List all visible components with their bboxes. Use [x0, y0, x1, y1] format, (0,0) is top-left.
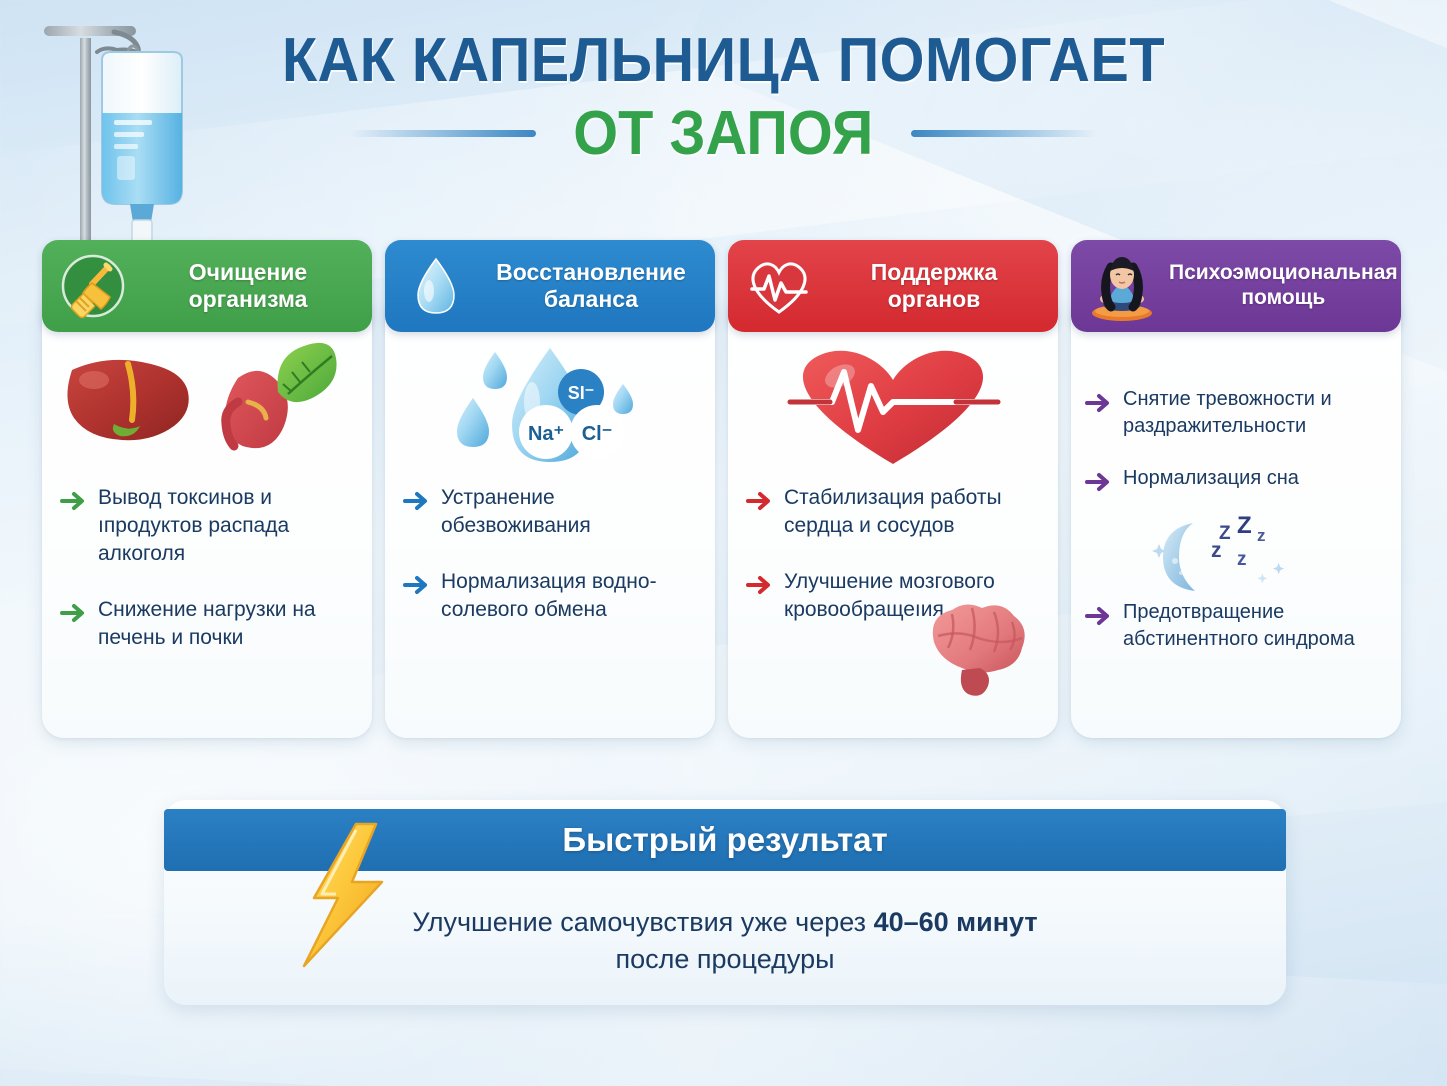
title-rule-left: [350, 130, 536, 137]
list-item: Нормализация водно-солевого обмена: [403, 568, 703, 624]
bullet-text: Стабилизация работы сердца и сосудов: [784, 484, 1046, 540]
card-bullets: Устранение обезвоживания Нормализация во…: [403, 484, 703, 652]
bullet-text: Нормализация сна: [1123, 465, 1299, 495]
card-header-cleansing: Очищение организма: [42, 240, 372, 332]
broom-icon: [56, 249, 130, 323]
list-item: Предотвращение абстинентного синдрома: [1085, 599, 1397, 652]
list-item: Устранение обезвоживания: [403, 484, 703, 540]
bullet-text: Нормализация водно-солевого обмена: [441, 568, 703, 624]
arrow-right-icon: [746, 572, 772, 598]
list-item: Снижение нагрузки на печень и почки: [60, 596, 360, 652]
card-organs[interactable]: Поддержка органов Стабилизация работы се…: [728, 240, 1058, 738]
card-psychoemotional[interactable]: Психоэмоциональная помощь Снятие тревожн…: [1071, 240, 1401, 738]
water-drop-icon: [399, 249, 473, 323]
card-header-title: Психоэмоциональная помощь: [1169, 261, 1402, 311]
title-rule-right: [911, 130, 1097, 137]
card-header-organs: Поддержка органов: [728, 240, 1058, 332]
card-header-balance: Восстановление баланса: [385, 240, 715, 332]
svg-text:Na⁺: Na⁺: [528, 423, 564, 445]
card-bullets: Снятие тревожности и раздражительности Н…: [1085, 386, 1397, 678]
moon-sleep-zzz-icon: Z Z z z z: [1085, 521, 1397, 599]
heart-ecg-icon: [728, 336, 1058, 476]
svg-text:Cl⁻: Cl⁻: [582, 423, 613, 445]
lightning-bolt-icon: [298, 820, 388, 970]
list-item: Снятие тревожности и раздражительности: [1085, 386, 1397, 439]
arrow-right-icon: [60, 600, 86, 626]
banner-highlight: 40–60 минут: [874, 907, 1038, 937]
benefit-cards: Очищение организма: [0, 240, 1447, 745]
arrow-right-icon: [403, 572, 429, 598]
electrolyte-drops-icon: SI⁻ Na⁺ Cl⁻: [385, 336, 715, 476]
bullet-text: Предотвращение абстинентного синдрома: [1123, 599, 1397, 652]
heart-pulse-icon: [742, 249, 816, 323]
list-item: Нормализация сна: [1085, 465, 1397, 495]
list-item: Стабилизация работы сердца и сосудов: [746, 484, 1046, 540]
page-title: КАК КАПЕЛЬНИЦА ПОМОГАЕТ ОТ ЗАПОЯ: [0, 28, 1447, 166]
brain-icon: [914, 592, 1044, 702]
card-header-title: Восстановление баланса: [483, 259, 703, 313]
meditating-woman-icon: [1085, 249, 1159, 323]
arrow-right-icon: [1085, 390, 1111, 416]
arrow-right-icon: [1085, 603, 1111, 629]
arrow-right-icon: [746, 488, 772, 514]
bullet-text: Вывод токсинов и ıпродуктов распада алко…: [98, 484, 360, 568]
fast-result-banner: Быстрый результат Улучшение самочувствия…: [164, 800, 1286, 1005]
bullet-text: Снятие тревожности и раздражительности: [1123, 386, 1397, 439]
title-line-1: КАК КАПЕЛЬНИЦА ПОМОГАЕТ: [51, 28, 1397, 93]
arrow-right-icon: [60, 488, 86, 514]
svg-text:z: z: [1257, 526, 1266, 545]
banner-heading: Быстрый результат: [562, 821, 887, 859]
liver-kidney-leaf-icon: [42, 336, 372, 476]
card-header-title: Очищение организма: [140, 259, 360, 313]
banner-line-2: после процедуры: [615, 944, 834, 975]
title-line-2: ОТ ЗАПОЯ: [573, 101, 873, 166]
card-header-psychoemotional: Психоэмоциональная помощь: [1071, 240, 1401, 332]
card-header-title: Поддержка органов: [826, 259, 1046, 313]
svg-text:z: z: [1211, 539, 1222, 562]
banner-line-1-prefix: Улучшение самочувствия уже через: [412, 907, 873, 937]
bullet-text: Снижение нагрузки на печень и почки: [98, 596, 360, 652]
bullet-text: Устранение обезвоживания: [441, 484, 703, 540]
arrow-right-icon: [403, 488, 429, 514]
card-balance[interactable]: Восстановление баланса SI⁻: [385, 240, 715, 738]
arrow-right-icon: [1085, 469, 1111, 495]
svg-text:Z: Z: [1237, 515, 1252, 539]
svg-text:SI⁻: SI⁻: [568, 383, 595, 403]
card-bullets: Вывод токсинов и ıпродуктов распада алко…: [60, 484, 360, 680]
svg-text:z: z: [1237, 549, 1247, 570]
list-item: Вывод токсинов и ıпродуктов распада алко…: [60, 484, 360, 568]
banner-line-1: Улучшение самочувствия уже через 40–60 м…: [412, 907, 1037, 938]
card-cleansing[interactable]: Очищение организма: [42, 240, 372, 738]
